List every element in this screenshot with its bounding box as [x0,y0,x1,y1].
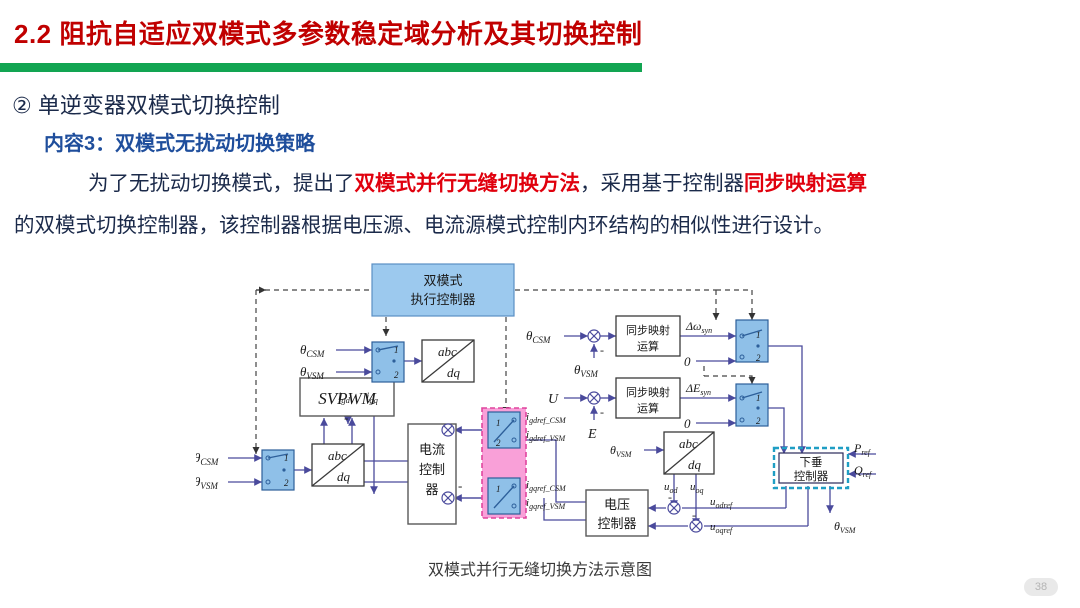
switch-igqref[interactable]: 1 [488,478,520,514]
sync-map-2-label-1: 同步映射 [626,385,670,399]
page-title: 2.2 阻抗自适应双模式多参数稳定域分析及其切换控制 [14,14,642,51]
svg-text:Δωsyn: Δωsyn [685,319,712,335]
igdref-vsm-sub: gdref_VSM [529,434,566,443]
delta-omega-syn-label: Δω [685,319,702,333]
switch-pos-2-label: 2 [284,478,289,488]
svg-text:igqref_VSM: igqref_VSM [526,497,567,511]
switch-pos-2-label: 2 [496,438,501,448]
minus-sign: - [668,490,672,504]
block-abc-dq-top: abc dq [422,340,474,382]
voltage-controller-label-2: 控制器 [597,516,636,531]
pref-sub: ref [861,448,871,457]
signal-labels: θCSM θVSM θCSM θVSM igd igq igdref_CSM i… [196,319,873,535]
page-number: 38 [1024,578,1058,596]
svg-text:Pref: Pref [853,441,872,457]
figure-caption: 双模式并行无缝切换方法示意图 [0,556,1080,580]
zero-label-2: 0 [684,416,691,431]
block-current-controller: 电流 控制 器 [408,424,456,524]
abc-dq-left-bottom: dq [337,469,351,484]
block-sync-map-1: 同步映射 运算 [616,316,680,356]
e-label: E [587,427,597,442]
block-abc-dq-left: abc dq [312,444,364,486]
minus-sign: - [600,405,604,419]
content-heading: 内容3：双模式无扰动切换策略 [44,127,315,156]
theta-csm-sub: CSM [532,335,551,345]
theta-vsm-sub: VSM [616,450,633,459]
svg-text:igqref_CSM: igqref_CSM [526,479,567,493]
theta-vsm-sub: VSM [306,371,324,381]
qref-label: Q [854,463,863,477]
svg-text:θVSM: θVSM [834,519,857,535]
svg-text:θVSM: θVSM [610,443,633,459]
switch-pos-2-label: 2 [756,416,761,426]
slide-root: 2.2 阻抗自适应双模式多参数稳定域分析及其切换控制 ② 单逆变器双模式切换控制… [0,0,1080,608]
block-diagram-figure: 双模式 执行控制器 SVPWM abc dq abc dq abc dq [196,258,896,558]
svg-text:θCSM: θCSM [300,342,325,359]
svg-text:uoq: uoq [690,481,704,495]
switch-pos-1-label: 1 [496,484,501,494]
igqref-csm-sub: gqref_CSM [529,484,567,493]
theta-vsm-sub: VSM [200,481,218,491]
switch-pos-2-label: 2 [756,353,761,363]
svg-text:igdref_CSM: igdref_CSM [526,411,567,425]
u-label: U [548,392,559,407]
svg-text:uodref: uodref [710,496,734,510]
delta-e-syn-label: ΔE [685,381,701,395]
abc-dq-top-bottom: dq [447,365,461,380]
minus-sign: - [600,343,604,357]
svg-text:Qref: Qref [854,463,873,479]
droop-controller-label-2: 控制器 [794,469,829,483]
block-sync-map-2: 同步映射 运算 [616,378,680,418]
switch-theta-top[interactable]: 1 2 [372,342,404,382]
dual-mode-controller-label-1: 双模式 [423,273,462,288]
paragraph-highlight-1: 双模式并行无缝切换方法 [355,172,581,195]
switch-pos-1-label: 1 [496,418,501,428]
paragraph-highlight-2: 同步映射运算 [744,172,867,195]
switch-pos-1-label: 1 [284,453,289,463]
theta-vsm-sub: VSM [840,526,857,535]
dual-mode-controller-label-2: 执行控制器 [410,292,475,307]
abc-dq-top-top: abc [438,344,457,359]
minus-sign: - [344,410,348,425]
section-bullet: ② 单逆变器双模式切换控制 [12,88,280,120]
theta-vsm-sub: VSM [580,369,598,379]
abc-dq-left-top: abc [328,448,347,463]
uodref-sub: odref [716,501,734,510]
abc-dq-right-bottom: dq [688,457,702,472]
delta-omega-syn-sub: syn [702,326,713,335]
current-controller-label-2: 控制 [419,462,445,477]
switch-igdref[interactable]: 1 2 [488,412,520,448]
svg-text:θCSM: θCSM [196,450,219,467]
block-abc-dq-right: abc dq [664,432,714,474]
paragraph-line-2: 的双模式切换控制器，该控制器根据电压源、电流源模式控制内环结构的相似性进行设计。 [14,212,1070,240]
voltage-controller-label-1: 电压 [604,497,630,512]
switch-pos-1-label: 1 [394,345,399,355]
block-voltage-controller: 电压 控制器 [586,490,648,536]
paragraph-text-a: 为了无扰动切换模式，提出了 [88,172,355,195]
current-controller-label-3: 器 [425,482,438,497]
zero-label-1: 0 [684,354,691,369]
sync-map-1-label-1: 同步映射 [626,323,670,337]
switch-delta-e[interactable]: 1 2 [736,384,768,426]
paragraph-text-b: ，采用基于控制器 [580,172,744,195]
svg-text:θCSM: θCSM [526,328,551,345]
minus-sign: - [692,508,696,522]
svg-text:θVSM: θVSM [574,362,598,379]
switch-pos-1-label: 1 [756,393,761,403]
switch-theta-left-bottom[interactable]: 1 2 [262,450,294,490]
svg-text:ΔEsyn: ΔEsyn [685,381,711,397]
svg-text:uoqref: uoqref [710,521,734,535]
sync-map-2-label-2: 运算 [637,401,659,415]
abc-dq-right-top: abc [679,436,698,451]
svg-text:igdref_VSM: igdref_VSM [526,429,567,443]
svg-text:θVSM: θVSM [196,474,218,491]
block-dual-mode-controller: 双模式 执行控制器 [372,264,514,316]
delta-e-syn-sub: syn [700,388,711,397]
uoqref-sub: oqref [716,526,734,535]
droop-controller-label-1: 下垂 [800,456,823,469]
igdref-csm-sub: gdref_CSM [529,416,567,425]
title-underline-rule [0,63,642,72]
switch-pos-2-label: 2 [394,370,399,380]
minus-sign: - [458,478,462,493]
switch-delta-omega[interactable]: 1 2 [736,320,768,363]
igd-sub: gd [341,395,350,405]
sync-map-1-label-2: 运算 [637,339,659,353]
igqref-vsm-sub: gqref_VSM [529,502,566,511]
current-controller-label-1: 电流 [419,442,445,457]
block-droop-controller: 下垂 控制器 [774,448,848,488]
paragraph-line-1: 为了无扰动切换模式，提出了双模式并行无缝切换方法，采用基于控制器同步映射运算 [14,170,1070,198]
theta-csm-sub: CSM [306,349,325,359]
theta-csm-sub: CSM [200,457,219,467]
svg-text:θVSM: θVSM [300,364,324,381]
uoq-sub: oq [696,486,704,495]
igq-sub: gq [369,395,378,405]
switch-pos-1-label: 1 [756,330,761,340]
